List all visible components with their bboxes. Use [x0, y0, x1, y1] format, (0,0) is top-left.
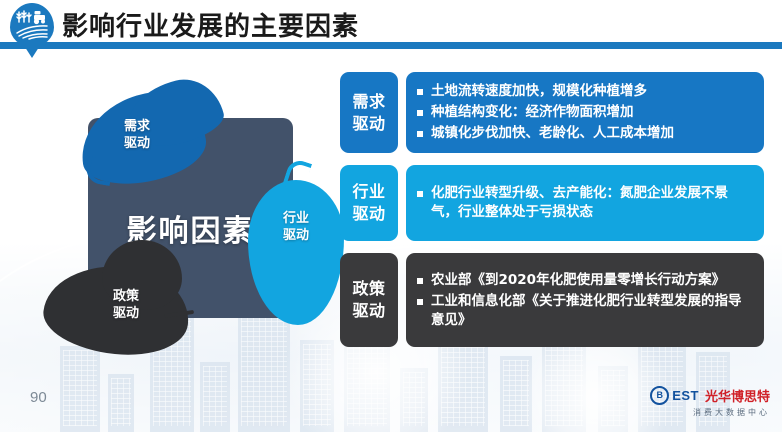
factor-tag-policy[interactable]: 政策 驱动: [340, 253, 398, 347]
bullet-item: 土地流转速度加快，规模化种植增多: [416, 82, 752, 101]
bullet-item: 工业和信息化部《关于推进化肥行业转型发展的指导意见》: [416, 292, 752, 330]
brand-name-cn: 光华博思特: [705, 386, 770, 405]
factor-body-industry: 化肥行业转型升级、去产能化：氮肥企业发展不景气，行业整体处于亏损状态: [406, 165, 764, 241]
bullet-item: 城镇化步伐加快、老龄化、人工成本增加: [416, 124, 752, 143]
factor-tag-line1: 政策: [352, 278, 385, 300]
slide: 影响行业发展的主要因素 影响因素 需求 驱动 行业 驱动: [0, 0, 782, 432]
diagram-node-industry[interactable]: 行业 驱动: [240, 160, 348, 335]
node-label-line2: 驱动: [124, 136, 150, 151]
diagram-node-policy-label: 政策 驱动: [86, 288, 166, 322]
factor-tag-line1: 需求: [352, 91, 385, 113]
factor-body-policy: 农业部《到2020年化肥使用量零增长行动方案》 工业和信息化部《关于推进化肥行业…: [406, 253, 764, 347]
node-label-line1: 需求: [124, 119, 150, 134]
node-label-line1: 行业: [283, 211, 309, 226]
bullet-item: 化肥行业转型升级、去产能化：氮肥企业发展不景气，行业整体处于亏损状态: [416, 184, 752, 222]
factor-tag-line2: 驱动: [352, 300, 385, 322]
bullet-item: 农业部《到2020年化肥使用量零增长行动方案》: [416, 271, 752, 290]
node-label-line2: 驱动: [113, 306, 139, 321]
factor-tag-demand[interactable]: 需求 驱动: [340, 72, 398, 153]
brand-mark-icon: B: [650, 386, 669, 405]
factor-rows: 需求 驱动 土地流转速度加快，规模化种植增多 种植结构变化：经济作物面积增加 城…: [340, 72, 764, 359]
factor-body-demand: 土地流转速度加快，规模化种植增多 种植结构变化：经济作物面积增加 城镇化步伐加快…: [406, 72, 764, 153]
diagram-node-demand-label: 需求 驱动: [94, 118, 180, 152]
page-title: 影响行业发展的主要因素: [62, 6, 359, 43]
farm-map-pin-icon: [10, 3, 54, 47]
leaf-stem-icon: [84, 156, 114, 186]
node-label-line2: 驱动: [283, 228, 309, 243]
node-label-line1: 政策: [113, 289, 139, 304]
factor-tag-line1: 行业: [352, 181, 385, 203]
page-number: 90: [30, 389, 47, 406]
header-divider: [0, 42, 782, 49]
factor-row-industry: 行业 驱动 化肥行业转型升级、去产能化：氮肥企业发展不景气，行业整体处于亏损状态: [340, 165, 764, 241]
factor-tag-industry[interactable]: 行业 驱动: [340, 165, 398, 241]
brand-logo: B EST 光华博思特 消费大数据中心: [650, 386, 770, 418]
diagram-node-demand[interactable]: 需求 驱动: [80, 80, 222, 188]
brand-name: EST: [672, 388, 699, 403]
factor-row-policy: 政策 驱动 农业部《到2020年化肥使用量零增长行动方案》 工业和信息化部《关于…: [340, 253, 764, 347]
slide-header: 影响行业发展的主要因素: [0, 0, 782, 50]
diagram-node-policy[interactable]: 政策 驱动: [44, 248, 204, 360]
bullet-item: 种植结构变化：经济作物面积增加: [416, 103, 752, 122]
factor-tag-line2: 驱动: [352, 113, 385, 135]
diagram-node-industry-label: 行业 驱动: [256, 210, 336, 244]
leaf-shape-icon: [248, 180, 344, 325]
influence-factors-diagram: 影响因素 需求 驱动 行业 驱动 政策 驱动: [58, 88, 338, 353]
factor-row-demand: 需求 驱动 土地流转速度加快，规模化种植增多 种植结构变化：经济作物面积增加 城…: [340, 72, 764, 153]
brand-subtitle: 消费大数据中心: [650, 407, 770, 418]
factor-tag-line2: 驱动: [352, 203, 385, 225]
